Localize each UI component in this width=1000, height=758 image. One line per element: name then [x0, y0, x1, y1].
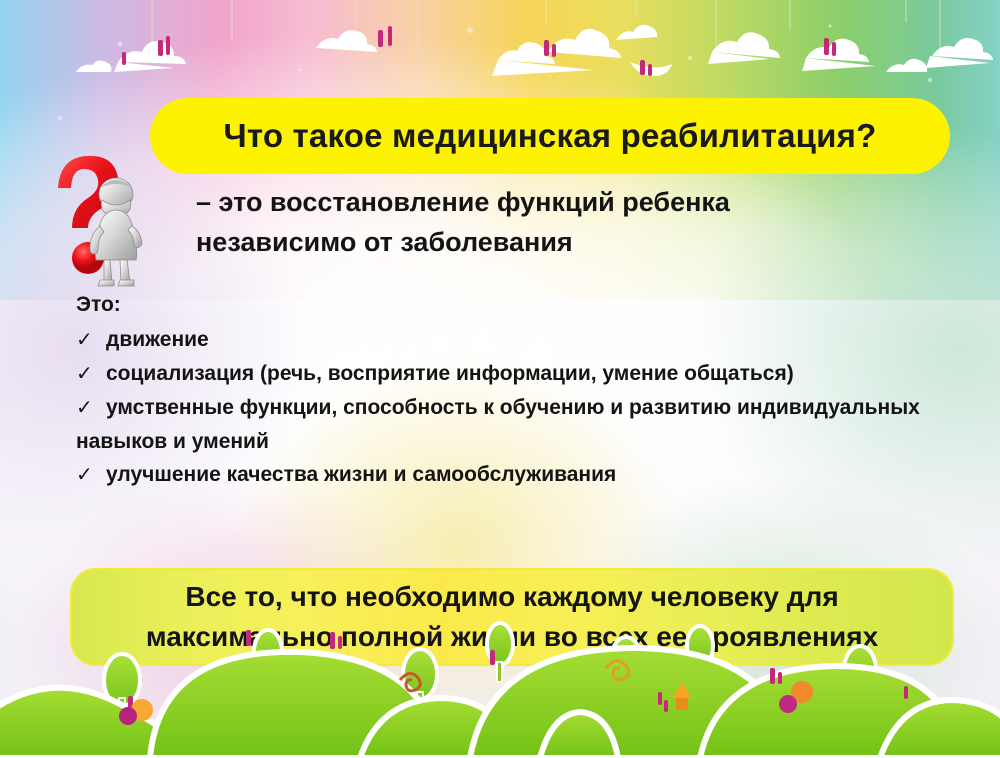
bullet-list: Это: ✓движение ✓социализация (речь, восп… — [76, 288, 956, 492]
check-icon: ✓ — [76, 392, 106, 425]
bottom-decoration-hills — [0, 608, 1000, 758]
top-decoration-clouds — [0, 0, 1000, 110]
list-item: ✓социализация (речь, восприятие информац… — [76, 357, 956, 391]
list-item-label: улучшение качества жизни и самообслужива… — [106, 463, 616, 486]
list-item: ✓движение — [76, 323, 956, 357]
title-banner: Что такое медицинская реабилитация? — [150, 98, 950, 174]
page-title: Что такое медицинская реабилитация? — [224, 117, 877, 155]
check-icon: ✓ — [76, 459, 106, 492]
list-item-label: умственные функции, способность к обучен… — [76, 396, 920, 453]
subtitle-line-1: – это восстановление функций ребенка — [196, 182, 896, 222]
slide-canvas: Что такое медицинская реабилитация? – эт… — [0, 0, 1000, 758]
question-mark-mascot-icon — [44, 150, 174, 290]
list-item-label: движение — [106, 328, 209, 351]
check-icon: ✓ — [76, 358, 106, 391]
list-lead-label: Это: — [76, 288, 956, 321]
subtitle-line-2: независимо от заболевания — [196, 222, 896, 262]
check-icon: ✓ — [76, 324, 106, 357]
list-item: ✓умственные функции, способность к обуче… — [76, 391, 956, 458]
list-item: ✓улучшение качества жизни и самообслужив… — [76, 458, 956, 492]
list-item-label: социализация (речь, восприятие информаци… — [106, 362, 794, 385]
subtitle-block: – это восстановление функций ребенка нез… — [196, 182, 896, 262]
